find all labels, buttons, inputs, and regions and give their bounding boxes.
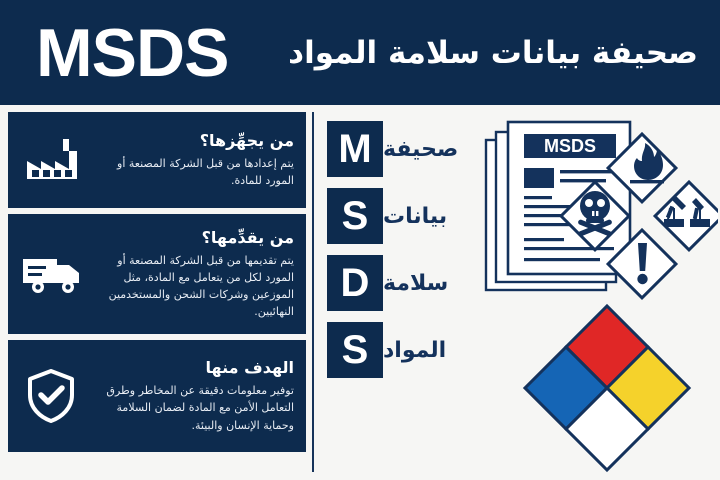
card-title: من يجهِّزها؟ (92, 131, 294, 151)
factory-icon (18, 131, 84, 189)
card-text-block: من يجهِّزها؟ يتم إعدادها من قبل الشركة ا… (86, 131, 294, 189)
card-body: توفير معلومات دقيقة عن المخاطر وطرق التع… (92, 382, 294, 433)
infographic-page: MSDS صحيفة بيانات سلامة المواد من يجهِّز… (0, 0, 720, 480)
card-body: يتم تقديمها من قبل الشركة المصنعة أو الم… (92, 252, 294, 320)
acronym-word: سلامة (383, 271, 448, 296)
card-text-block: من يقدِّمها؟ يتم تقديمها من قبل الشركة ا… (86, 228, 294, 320)
acronym-word: بيانات (383, 204, 447, 229)
page-title: صحيفة بيانات سلامة المواد (288, 35, 698, 71)
header-logo: MSDS (36, 19, 228, 87)
acronym-list: M صحيفة S بيانات D سلامة S المواد (327, 118, 477, 386)
card-text-block: الهدف منها توفير معلومات دقيقة عن المخاط… (86, 358, 294, 433)
nfpa-704-diamond (492, 298, 720, 478)
acronym-row-s1: S بيانات (327, 185, 477, 247)
acronym-letter: S (327, 322, 383, 378)
acronym-row-s2: S المواد (327, 319, 477, 381)
right-column: M صحيفة S بيانات D سلامة S المواد (320, 112, 720, 474)
acronym-row-d: D سلامة (327, 252, 477, 314)
acronym-letter: S (327, 188, 383, 244)
column-divider (312, 112, 314, 472)
acronym-word: صحيفة (383, 137, 458, 162)
left-column: من يجهِّزها؟ يتم إعدادها من قبل الشركة ا… (8, 112, 306, 458)
card-title: الهدف منها (92, 358, 294, 378)
document-header-label: MSDS (544, 136, 596, 156)
skull-crossbones-icon (577, 191, 612, 237)
info-card-who-prepares: من يجهِّزها؟ يتم إعدادها من قبل الشركة ا… (8, 112, 306, 208)
acronym-word: المواد (383, 338, 446, 363)
info-card-who-provides: من يقدِّمها؟ يتم تقديمها من قبل الشركة ا… (8, 214, 306, 334)
truck-icon (18, 245, 84, 303)
acronym-letter: D (327, 255, 383, 311)
info-card-purpose: الهدف منها توفير معلومات دقيقة عن المخاط… (8, 340, 306, 452)
acronym-letter: M (327, 121, 383, 177)
card-body: يتم إعدادها من قبل الشركة المصنعة أو الم… (92, 155, 294, 189)
msds-document-illustration: MSDS (480, 112, 718, 302)
card-title: من يقدِّمها؟ (92, 228, 294, 248)
shield-check-icon (18, 367, 84, 425)
acronym-row-m: M صحيفة (327, 118, 477, 180)
header-banner: MSDS صحيفة بيانات سلامة المواد (0, 0, 720, 105)
